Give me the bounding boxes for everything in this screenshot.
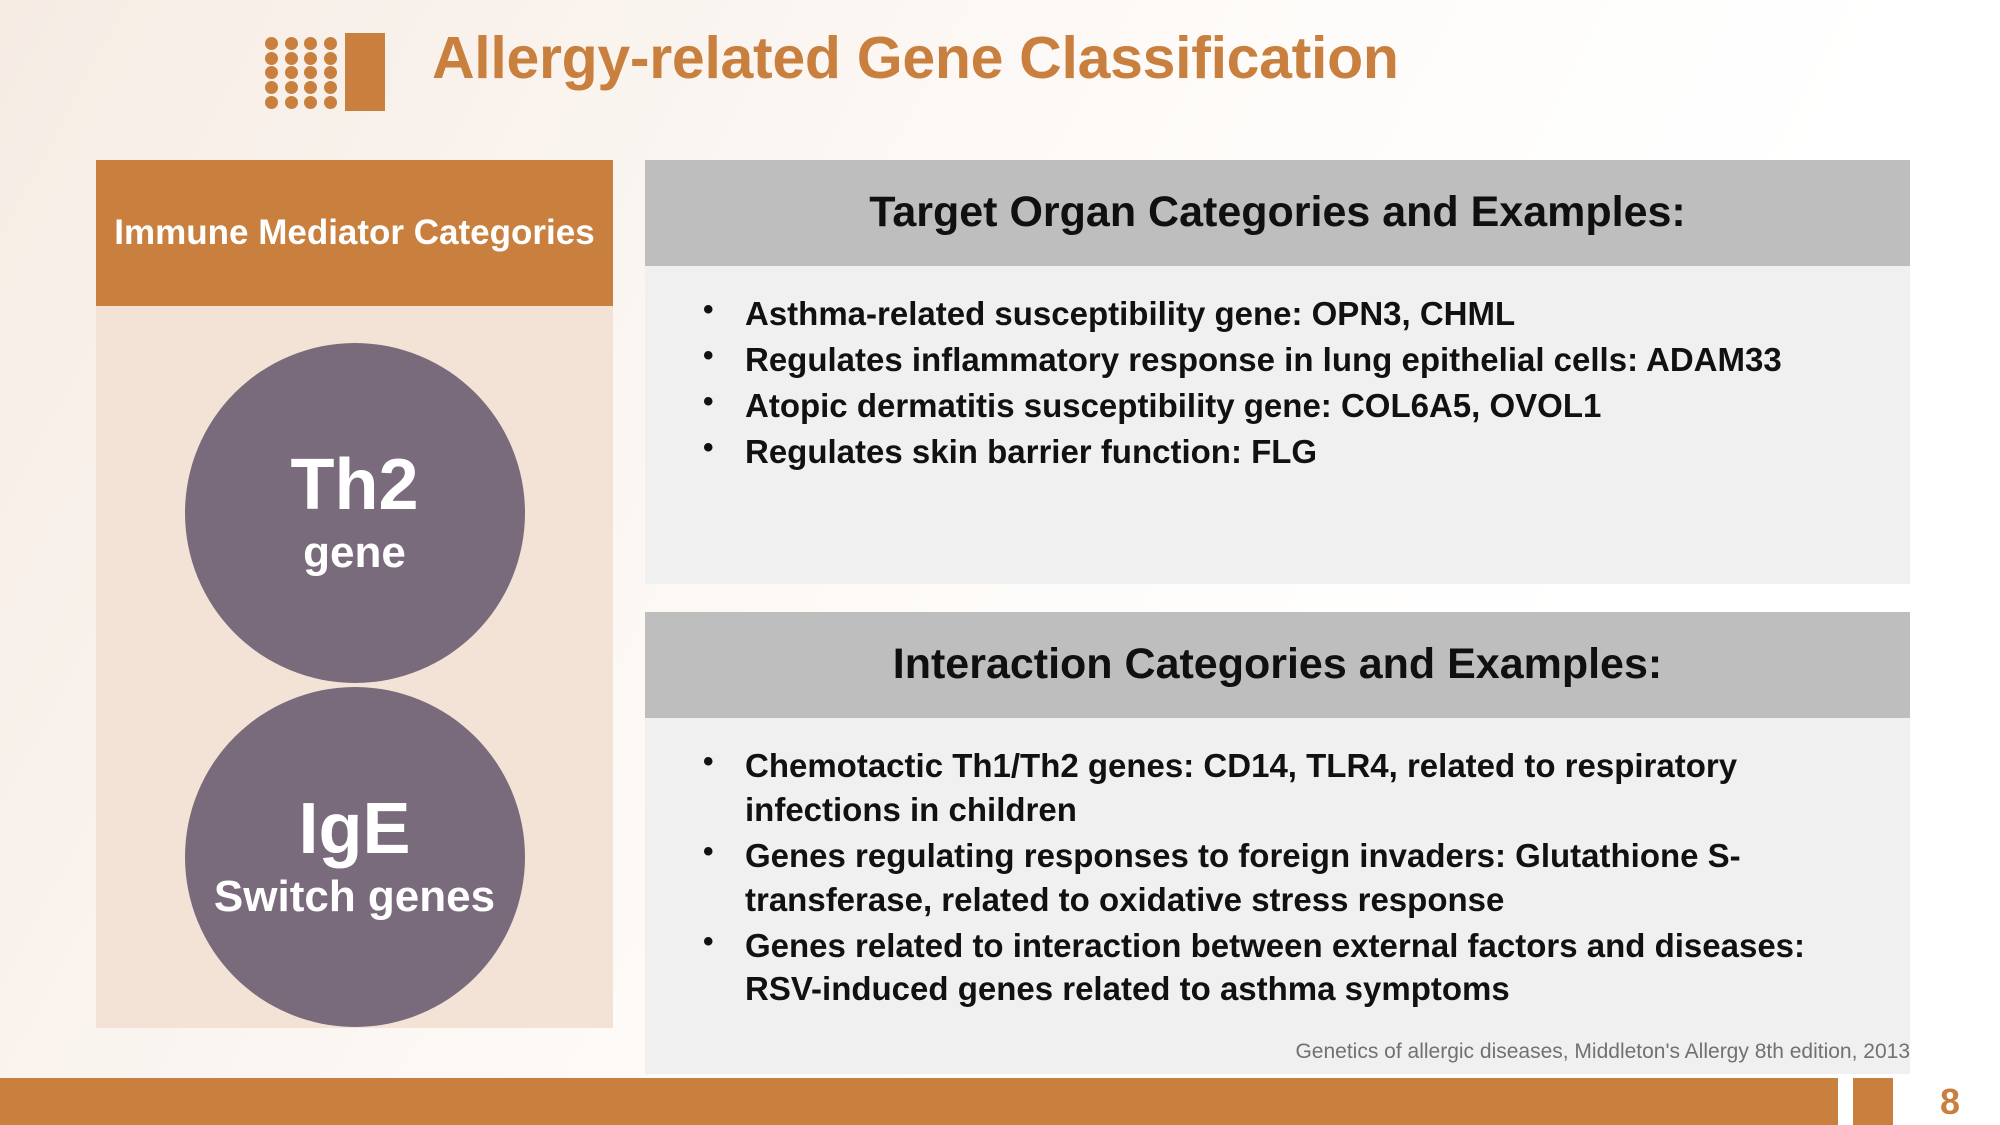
dot-icon: [265, 52, 278, 65]
dot-icon: [304, 81, 317, 94]
bubble-ige-secondary-label: Switch genes: [214, 872, 495, 921]
dot-icon: [285, 81, 298, 94]
dot-icon: [265, 66, 278, 79]
list-item: Atopic dermatitis susceptibility gene: C…: [687, 384, 1876, 428]
dot-icon: [265, 37, 278, 50]
target-organ-panel-body: Asthma-related susceptibility gene: OPN3…: [645, 266, 1910, 584]
dot-icon: [324, 37, 337, 50]
list-item: Chemotactic Th1/Th2 genes: CD14, TLR4, r…: [687, 744, 1876, 832]
interaction-panel-header: Interaction Categories and Examples:: [645, 612, 1910, 718]
immune-mediator-panel-header-label: Immune Mediator Categories: [114, 211, 594, 256]
page-number: 8: [1915, 1078, 1985, 1125]
list-item: Asthma-related susceptibility gene: OPN3…: [687, 292, 1876, 336]
slide-canvas: Allergy-related Gene Classification Immu…: [0, 0, 2000, 1125]
dot-icon: [324, 81, 337, 94]
bubble-th2-primary-label: Th2: [290, 449, 418, 522]
dot-icon: [285, 37, 298, 50]
interaction-bullet-list: Chemotactic Th1/Th2 genes: CD14, TLR4, r…: [687, 744, 1876, 1011]
bubble-ige: IgE Switch genes: [185, 687, 525, 1027]
list-item: Regulates skin barrier function: FLG: [687, 430, 1876, 474]
interaction-panel-body: Chemotactic Th1/Th2 genes: CD14, TLR4, r…: [645, 718, 1910, 1074]
dot-icon: [304, 66, 317, 79]
interaction-panel: Interaction Categories and Examples: Che…: [645, 612, 1910, 1074]
dot-icon: [324, 52, 337, 65]
immune-mediator-panel-header: Immune Mediator Categories: [96, 160, 613, 306]
footer-accent-block: [1853, 1078, 1893, 1125]
bubble-th2-secondary-label: gene: [303, 528, 406, 577]
list-item: Genes related to interaction between ext…: [687, 924, 1876, 1012]
list-item: Regulates inflammatory response in lung …: [687, 338, 1876, 382]
target-organ-bullet-list: Asthma-related susceptibility gene: OPN3…: [687, 292, 1876, 474]
target-organ-panel-header: Target Organ Categories and Examples:: [645, 160, 1910, 266]
list-item: Genes regulating responses to foreign in…: [687, 834, 1876, 922]
footer-bar: [0, 1078, 1838, 1125]
dot-icon: [265, 96, 278, 109]
dot-icon: [304, 37, 317, 50]
dot-icon: [304, 96, 317, 109]
bubble-ige-primary-label: IgE: [298, 793, 410, 866]
dot-icon: [285, 52, 298, 65]
target-organ-panel: Target Organ Categories and Examples: As…: [645, 160, 1910, 584]
source-citation: Genetics of allergic diseases, Middleton…: [1295, 1040, 1910, 1064]
dot-icon: [324, 96, 337, 109]
title-accent-block: [345, 33, 385, 111]
interaction-panel-header-label: Interaction Categories and Examples:: [893, 641, 1662, 688]
dot-icon: [285, 66, 298, 79]
slide-title-bar: Allergy-related Gene Classification: [0, 0, 2000, 140]
immune-mediator-panel: Immune Mediator Categories Th2 gene IgE …: [96, 160, 613, 1028]
target-organ-panel-header-label: Target Organ Categories and Examples:: [869, 189, 1685, 236]
dot-icon: [304, 52, 317, 65]
dot-icon: [324, 66, 337, 79]
bubble-th2: Th2 gene: [185, 343, 525, 683]
dot-icon: [265, 81, 278, 94]
dot-icon: [285, 96, 298, 109]
page-title: Allergy-related Gene Classification: [432, 22, 1399, 96]
dot-grid-decoration-icon: [262, 36, 340, 110]
